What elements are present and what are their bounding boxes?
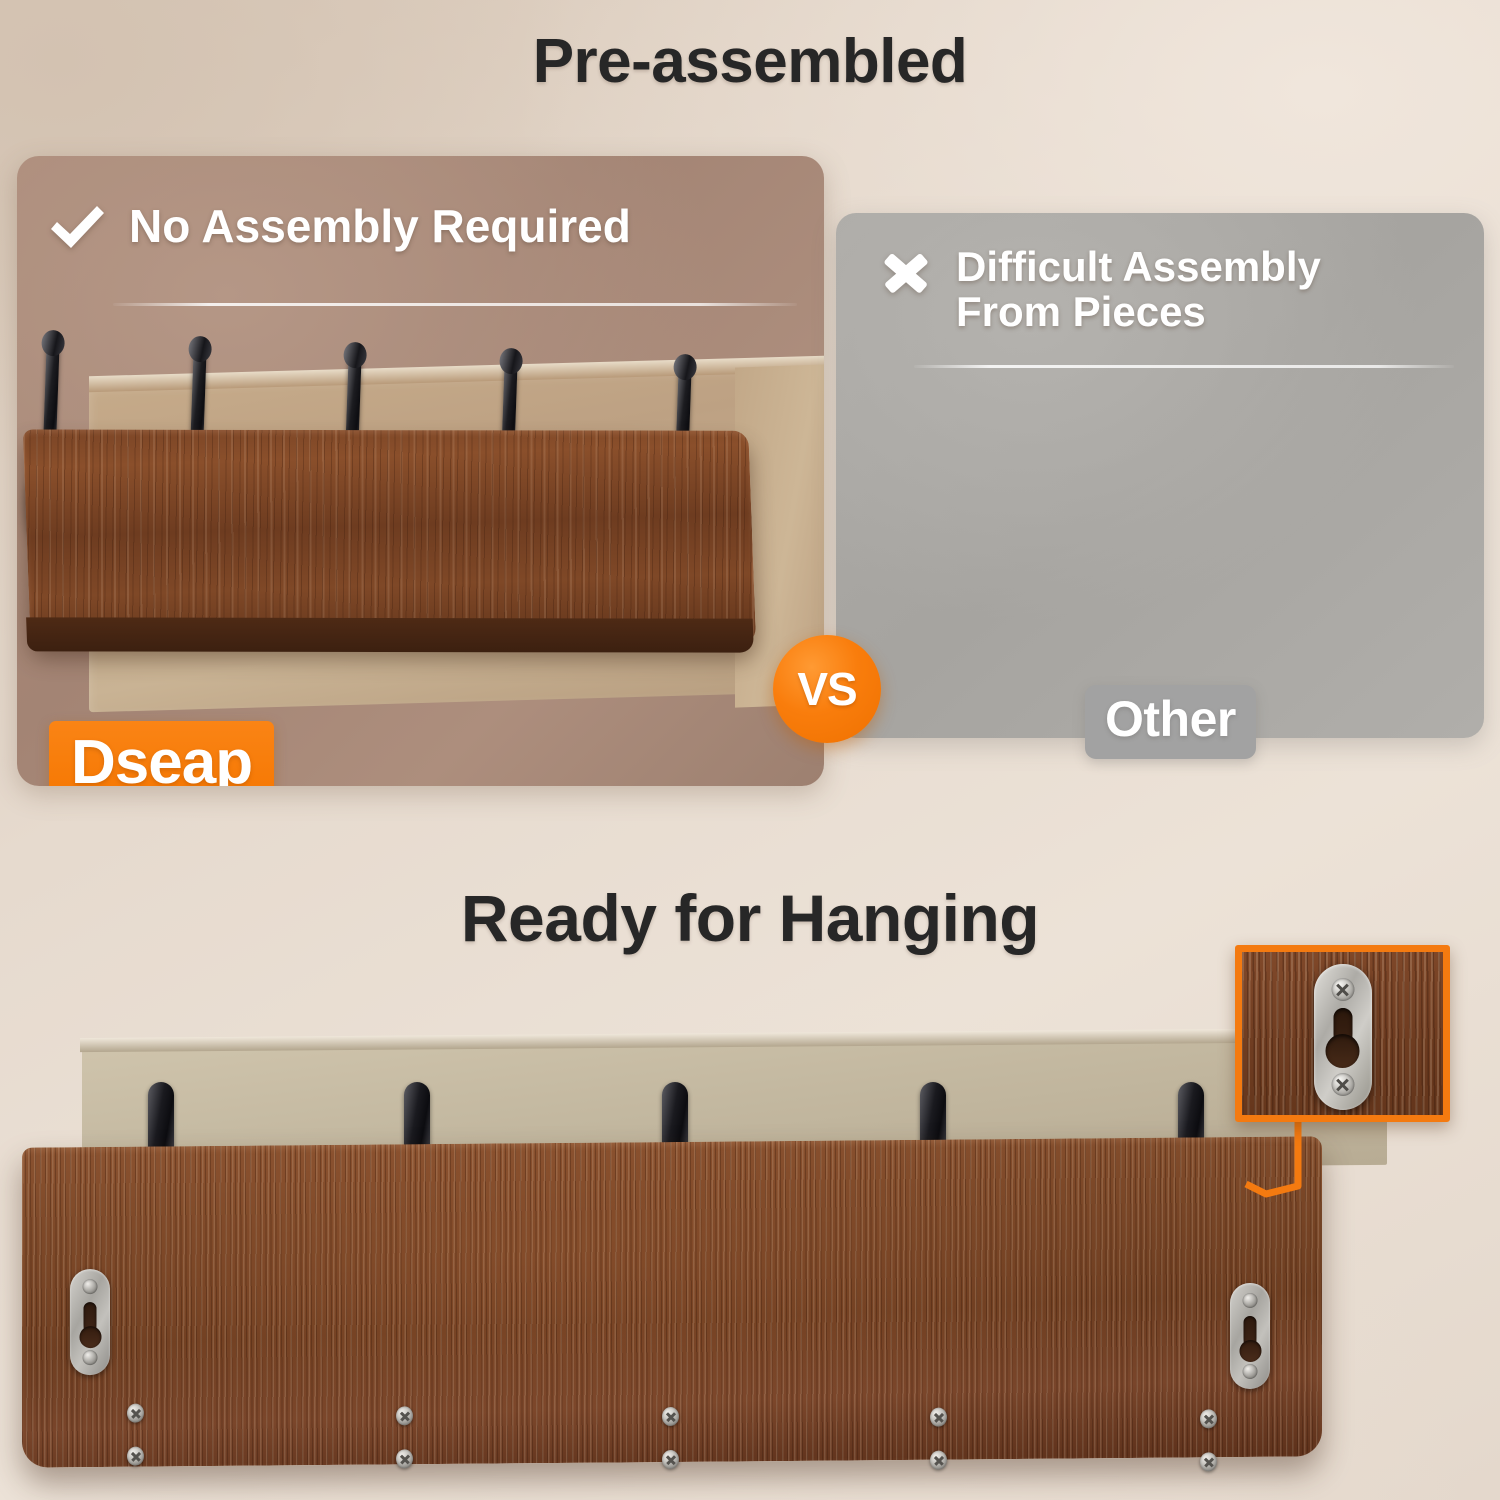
keyhole-hanger [70,1269,110,1375]
other-panel-label: Difficult Assembly From Pieces [956,245,1321,334]
keyhole-detail-callout [1235,945,1450,1122]
brand-badge-label: Dseap [71,728,252,786]
mounting-screw [1200,1409,1217,1428]
dseap-divider [113,303,797,306]
mounting-screw [127,1404,144,1423]
mounting-screw [662,1450,679,1469]
assembled-rack-photo [17,326,824,786]
dseap-panel-label: No Assembly Required [129,202,631,251]
wooden-board-back [22,1136,1322,1467]
wooden-board-edge [26,617,754,652]
brand-badge-other: Other [1085,685,1256,759]
other-panel-label-line1: Difficult Assembly [956,243,1321,290]
other-panel: Difficult Assembly From Pieces [836,213,1484,738]
brand-badge-dseap: Dseap [49,721,274,786]
mounting-screw [930,1408,947,1427]
detail-screw-top [1331,978,1354,1001]
page-title-pre-assembled: Pre-assembled [0,26,1500,97]
detail-keyhole-slot [1333,1008,1352,1056]
hook-tip [148,1082,174,1154]
mounting-screw [662,1407,679,1426]
other-panel-label-line2: From Pieces [956,290,1321,335]
other-panel-header: Difficult Assembly From Pieces [878,245,1321,334]
check-icon [47,202,107,259]
brand-badge-other-label: Other [1105,691,1236,747]
versus-badge: VS [773,635,881,743]
detail-screw-bottom [1331,1073,1354,1096]
keyhole-hanger [1230,1283,1270,1389]
mounting-screw [930,1451,947,1470]
versus-label: VS [797,662,856,716]
x-icon [878,245,934,310]
wooden-board [23,429,756,645]
dseap-panel: No Assembly Required Dseap [17,156,824,786]
mounting-screw [1200,1452,1217,1471]
other-divider [914,365,1454,368]
mounting-screw [127,1447,144,1466]
mounting-screw [396,1406,413,1425]
keyhole-hanger-detail [1314,964,1372,1110]
comparison-section: No Assembly Required Dseap [0,140,1500,820]
dseap-panel-header: No Assembly Required [47,202,631,259]
mounting-screw [396,1449,413,1468]
